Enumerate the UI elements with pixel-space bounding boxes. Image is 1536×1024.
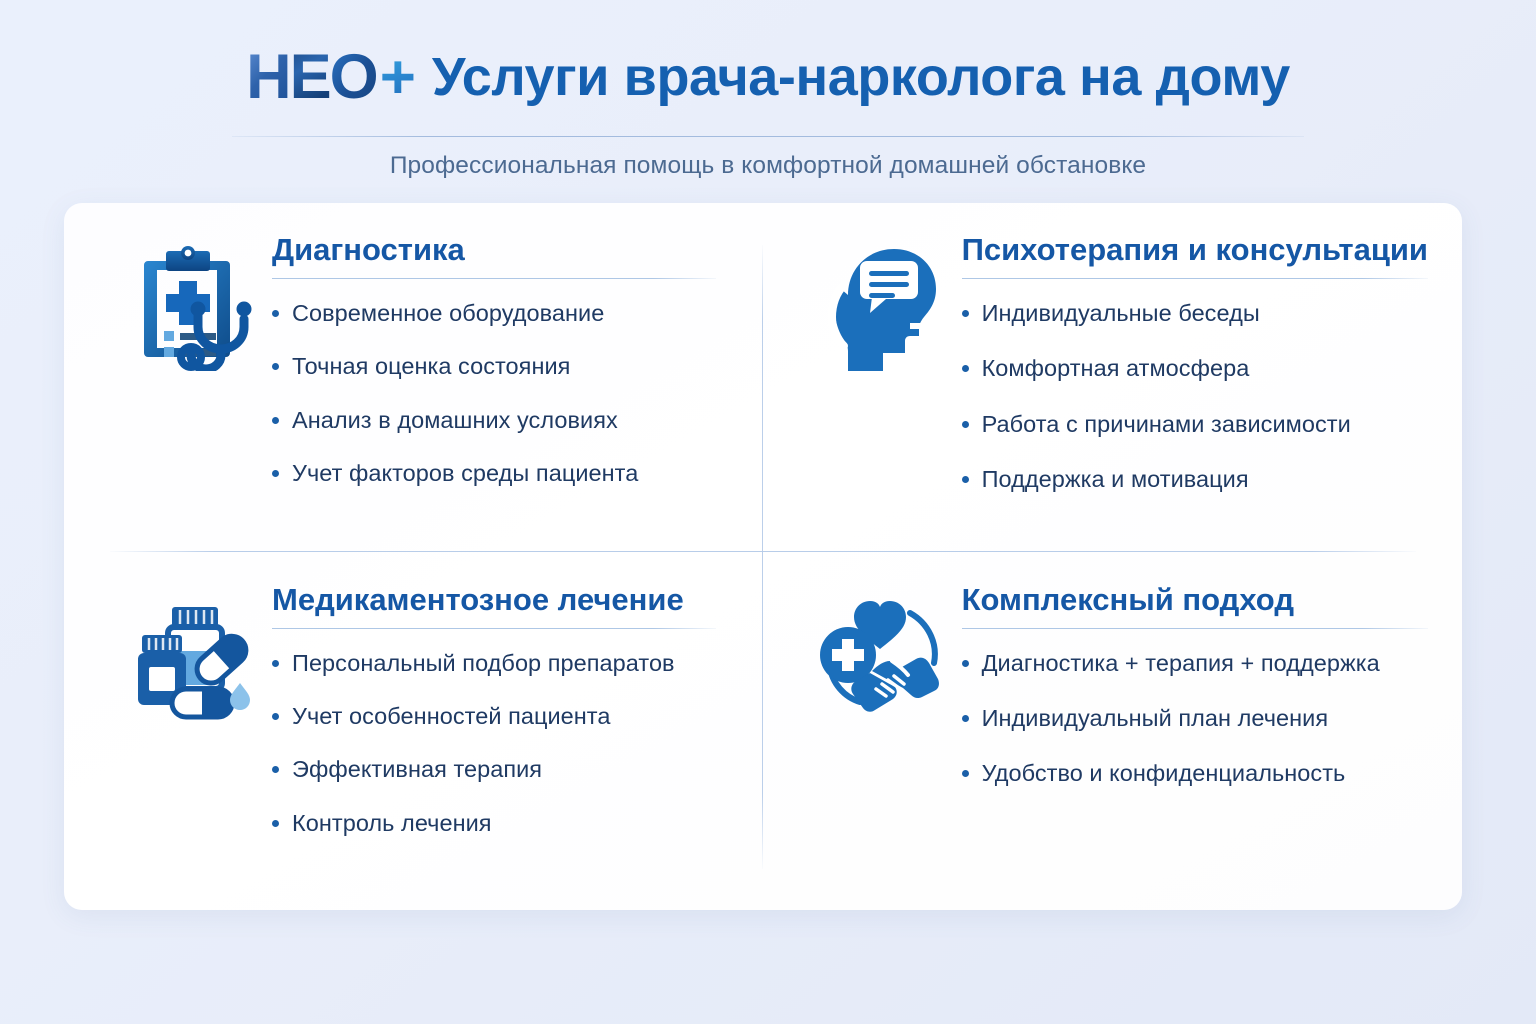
bullet-icon xyxy=(272,660,279,667)
card-body: Медикаментозное лечение Персональный под… xyxy=(266,583,716,839)
neo-plus-logo: HEO+ xyxy=(246,46,414,109)
card-rule xyxy=(962,278,1428,279)
list-item: Персональный подбор препаратов xyxy=(272,649,716,678)
list-item: Индивидуальные беседы xyxy=(962,299,1428,328)
card-feature-list: Персональный подбор препаратов Учет особ… xyxy=(272,649,716,839)
list-item: Комфортная атмосфера xyxy=(962,354,1428,383)
service-card-diagnostics[interactable]: Диагностика Современное оборудование Точ… xyxy=(64,203,750,557)
bullet-icon xyxy=(272,470,279,477)
clipboard-stethoscope-icon xyxy=(116,233,266,389)
list-item: Индивидуальный план лечения xyxy=(962,704,1428,733)
list-item: Анализ в домашних условиях xyxy=(272,406,716,435)
list-item-label: Индивидуальный план лечения xyxy=(982,704,1329,733)
list-item-label: Поддержка и мотивация xyxy=(982,465,1249,494)
bullet-icon xyxy=(272,363,279,370)
list-item-label: Диагностика + терапия + поддержка xyxy=(982,649,1380,678)
page-title: Услуги врача-нарколога на дому xyxy=(432,46,1290,108)
card-rule xyxy=(272,628,716,629)
logo-plus-icon: + xyxy=(380,47,414,109)
list-item-label: Персональный подбор препаратов xyxy=(292,649,675,678)
list-item: Поддержка и мотивация xyxy=(962,465,1428,494)
card-heading: Медикаментозное лечение xyxy=(272,583,716,628)
service-card-medication[interactable]: Медикаментозное лечение Персональный под… xyxy=(64,557,750,911)
pills-bottle-icon xyxy=(116,583,266,739)
card-body: Диагностика Современное оборудование Точ… xyxy=(266,233,716,489)
page-subtitle: Профессиональная помощь в комфортной дом… xyxy=(0,152,1536,180)
card-feature-list: Диагностика + терапия + поддержка Индиви… xyxy=(962,649,1428,789)
list-item: Учет особенностей пациента xyxy=(272,702,716,731)
services-panel: Диагностика Современное оборудование Точ… xyxy=(64,203,1462,910)
bullet-icon xyxy=(272,713,279,720)
card-rule xyxy=(272,278,716,279)
list-item-label: Учет факторов среды пациента xyxy=(292,459,638,488)
header-title-row: HEO+ Услуги врача-нарколога на дому xyxy=(0,36,1536,118)
bullet-icon xyxy=(272,766,279,773)
list-item-label: Контроль лечения xyxy=(292,809,492,838)
list-item-label: Работа с причинами зависимости xyxy=(982,410,1351,439)
heart-handshake-icon xyxy=(802,583,952,739)
card-feature-list: Индивидуальные беседы Комфортная атмосфе… xyxy=(962,299,1428,495)
list-item-label: Точная оценка состояния xyxy=(292,352,570,381)
card-body: Психотерапия и консультации Индивидуальн… xyxy=(952,233,1428,521)
list-item-label: Индивидуальные беседы xyxy=(982,299,1260,328)
head-speech-bubble-icon xyxy=(802,233,952,389)
list-item: Контроль лечения xyxy=(272,809,716,838)
service-card-psychotherapy[interactable]: Психотерапия и консультации Индивидуальн… xyxy=(750,203,1462,557)
card-heading: Диагностика xyxy=(272,233,716,278)
list-item-label: Комфортная атмосфера xyxy=(982,354,1250,383)
list-item: Диагностика + терапия + поддержка xyxy=(962,649,1428,678)
list-item-label: Анализ в домашних условиях xyxy=(292,406,618,435)
card-heading: Психотерапия и консультации xyxy=(962,233,1428,278)
logo-letter-o: O xyxy=(330,46,377,109)
list-item-label: Эффективная терапия xyxy=(292,755,542,784)
list-item-label: Удобство и конфиденциальность xyxy=(982,759,1346,788)
header-divider xyxy=(232,136,1304,137)
bullet-icon xyxy=(272,417,279,424)
list-item: Работа с причинами зависимости xyxy=(962,410,1428,439)
grid-divider-vertical xyxy=(762,245,763,869)
card-body: Комплексный подход Диагностика + терапия… xyxy=(952,583,1428,815)
logo-letter-e: E xyxy=(290,46,330,109)
logo-letter-h: H xyxy=(246,46,290,109)
card-rule xyxy=(962,628,1428,629)
grid-divider-horizontal xyxy=(110,551,1416,552)
bullet-icon xyxy=(962,476,969,483)
bullet-icon xyxy=(962,660,969,667)
list-item: Точная оценка состояния xyxy=(272,352,716,381)
card-feature-list: Современное оборудование Точная оценка с… xyxy=(272,299,716,489)
bullet-icon xyxy=(272,820,279,827)
list-item: Учет факторов среды пациента xyxy=(272,459,716,488)
services-grid: Диагностика Современное оборудование Точ… xyxy=(64,203,1462,910)
bullet-icon xyxy=(962,421,969,428)
list-item-label: Учет особенностей пациента xyxy=(292,702,610,731)
bullet-icon xyxy=(962,715,969,722)
list-item-label: Современное оборудование xyxy=(292,299,604,328)
list-item: Удобство и конфиденциальность xyxy=(962,759,1428,788)
bullet-icon xyxy=(272,310,279,317)
list-item: Эффективная терапия xyxy=(272,755,716,784)
header: HEO+ Услуги врача-нарколога на дому Проф… xyxy=(0,36,1536,186)
bullet-icon xyxy=(962,365,969,372)
service-card-complex-approach[interactable]: Комплексный подход Диагностика + терапия… xyxy=(750,557,1462,911)
bullet-icon xyxy=(962,770,969,777)
bullet-icon xyxy=(962,310,969,317)
infographic-page: HEO+ Услуги врача-нарколога на дому Проф… xyxy=(0,0,1536,1024)
list-item: Современное оборудование xyxy=(272,299,716,328)
card-heading: Комплексный подход xyxy=(962,583,1428,628)
